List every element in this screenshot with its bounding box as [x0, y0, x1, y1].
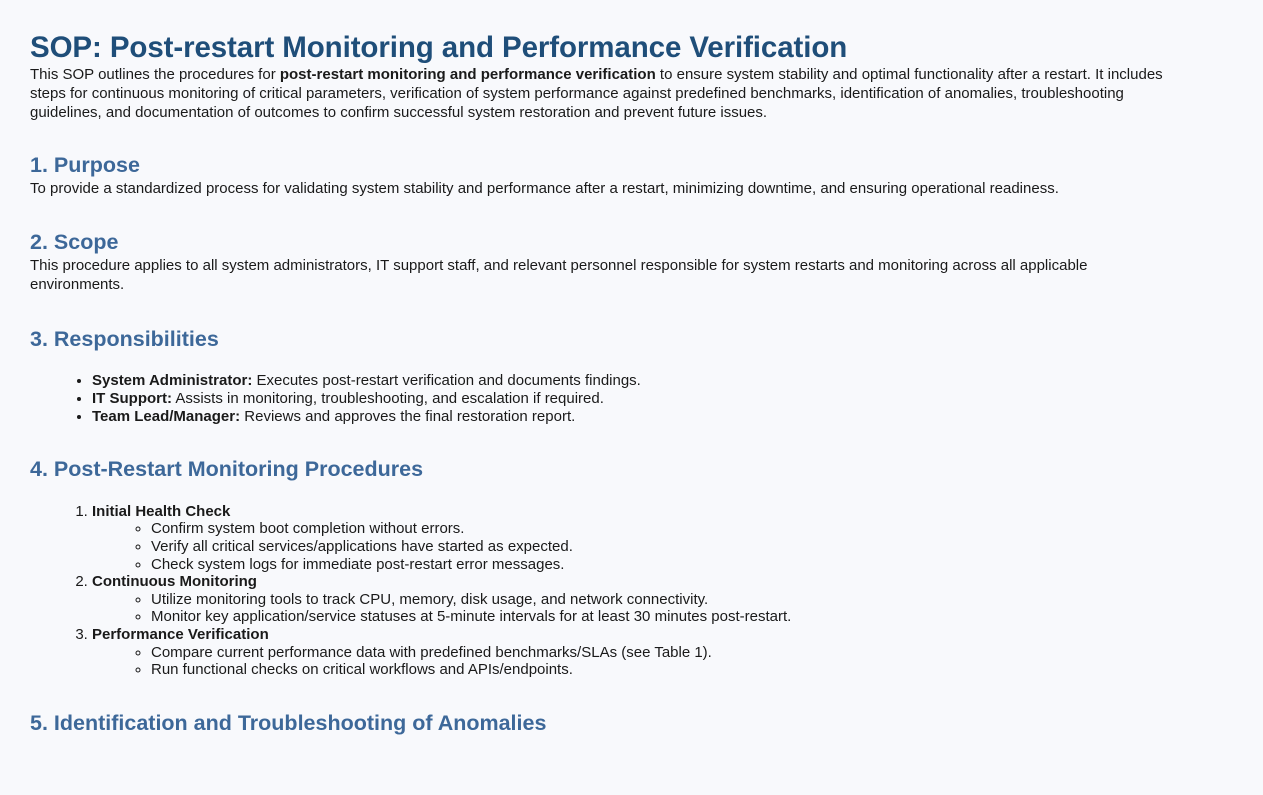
- intro-emphasis: post-restart monitoring and performance …: [280, 66, 656, 83]
- list-item: Initial Health Check Confirm system boot…: [92, 503, 1175, 573]
- list-item: Run functional checks on critical workfl…: [151, 661, 1175, 679]
- substep-list: Confirm system boot completion without e…: [92, 520, 1175, 573]
- section-heading-scope: 2. Scope: [30, 198, 1175, 256]
- list-item: Team Lead/Manager: Reviews and approves …: [92, 408, 1175, 426]
- list-item: Continuous Monitoring Utilize monitoring…: [92, 573, 1175, 626]
- step-title: Initial Health Check: [92, 503, 230, 520]
- list-item: Compare current performance data with pr…: [151, 644, 1175, 662]
- step-title: Performance Verification: [92, 626, 269, 643]
- section-heading-responsibilities: 3. Responsibilities: [30, 294, 1175, 353]
- section-heading-procedures: 4. Post-Restart Monitoring Procedures: [30, 425, 1175, 483]
- responsibility-description: Executes post-restart verification and d…: [252, 372, 641, 389]
- purpose-paragraph: To provide a standardized process for va…: [30, 179, 1175, 198]
- responsibility-description: Assists in monitoring, troubleshooting, …: [172, 390, 604, 407]
- list-item: Monitor key application/service statuses…: [151, 608, 1175, 626]
- responsibilities-list: System Administrator: Executes post-rest…: [30, 372, 1175, 425]
- responsibility-description: Reviews and approves the final restorati…: [240, 408, 575, 425]
- responsibility-role: Team Lead/Manager:: [92, 408, 240, 425]
- page-title: SOP: Post-restart Monitoring and Perform…: [30, 0, 1175, 65]
- responsibility-role: IT Support:: [92, 390, 172, 407]
- list-item: Check system logs for immediate post-res…: [151, 556, 1175, 574]
- intro-paragraph: This SOP outlines the procedures for pos…: [30, 65, 1175, 122]
- list-item: System Administrator: Executes post-rest…: [92, 372, 1175, 390]
- list-item: IT Support: Assists in monitoring, troub…: [92, 390, 1175, 408]
- list-item: Confirm system boot completion without e…: [151, 520, 1175, 538]
- section-heading-purpose: 1. Purpose: [30, 122, 1175, 179]
- substep-list: Compare current performance data with pr…: [92, 644, 1175, 679]
- procedures-list: Initial Health Check Confirm system boot…: [30, 503, 1175, 679]
- list-item: Verify all critical services/application…: [151, 538, 1175, 556]
- step-title: Continuous Monitoring: [92, 573, 257, 590]
- list-item: Performance Verification Compare current…: [92, 626, 1175, 679]
- substep-list: Utilize monitoring tools to track CPU, m…: [92, 591, 1175, 626]
- document-page: SOP: Post-restart Monitoring and Perform…: [0, 0, 1263, 795]
- section-heading-anomalies: 5. Identification and Troubleshooting of…: [30, 679, 1175, 737]
- list-item: Utilize monitoring tools to track CPU, m…: [151, 591, 1175, 609]
- intro-text-part-1: This SOP outlines the procedures for: [30, 66, 280, 83]
- responsibility-role: System Administrator:: [92, 372, 252, 389]
- scope-paragraph: This procedure applies to all system adm…: [30, 256, 1162, 294]
